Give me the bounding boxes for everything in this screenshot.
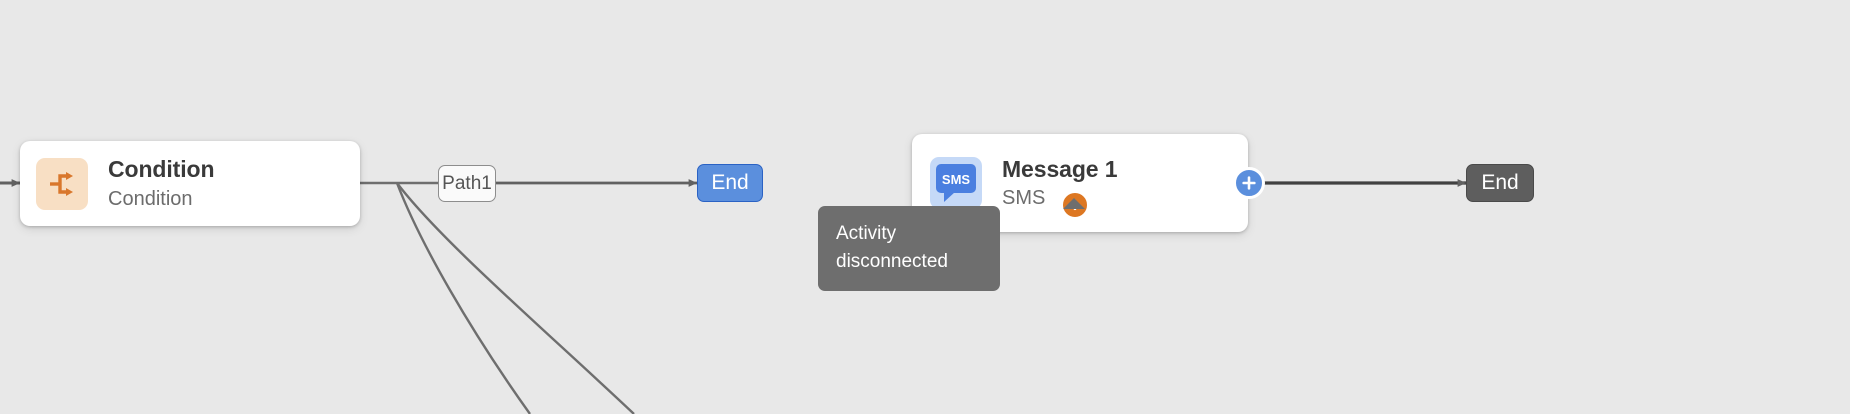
add-activity-button[interactable] [1233, 167, 1265, 199]
end-node-label: End [711, 171, 748, 195]
svg-text:SMS: SMS [942, 172, 971, 187]
tooltip-arrow [1063, 198, 1085, 209]
condition-node-title: Condition [108, 155, 214, 183]
edge-branch-3 [397, 183, 634, 414]
condition-node-subtitle: Condition [108, 187, 214, 212]
tooltip-line-1: Activity [836, 220, 982, 248]
end-node-message[interactable]: End [1466, 164, 1534, 202]
workflow-canvas[interactable]: Condition Condition Path1 End SMS Messag… [0, 0, 1850, 414]
path-label-path1[interactable]: Path1 [438, 165, 496, 202]
branch-split-icon [36, 158, 88, 210]
tooltip-line-2: disconnected [836, 248, 982, 276]
sms-bubble-icon: SMS [930, 157, 982, 209]
activity-node-condition[interactable]: Condition Condition [20, 141, 360, 226]
message-node-title: Message 1 [1002, 155, 1117, 183]
condition-node-text: Condition Condition [108, 155, 214, 211]
activity-disconnected-tooltip: Activity disconnected [818, 206, 1000, 291]
path-label-text: Path1 [442, 173, 492, 195]
end-node-label: End [1481, 171, 1518, 195]
end-node-path1[interactable]: End [697, 164, 763, 202]
